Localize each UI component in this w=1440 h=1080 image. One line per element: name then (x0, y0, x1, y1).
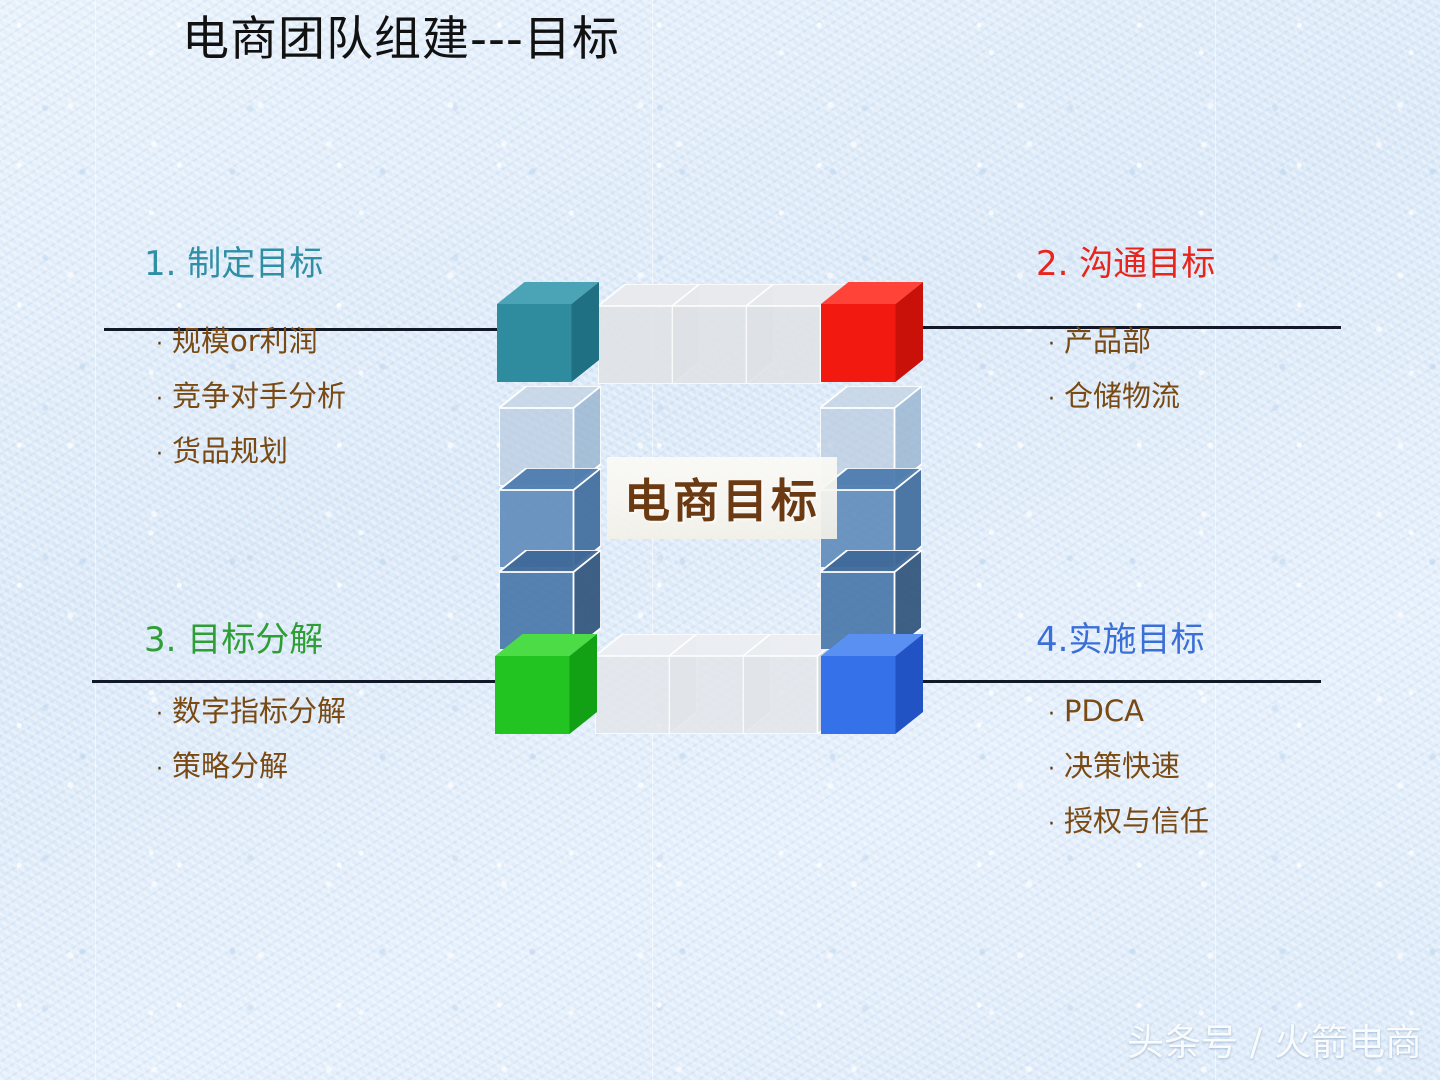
quadrant-4-bullet-list: · PDCA · 决策快速 · 授权与信任 (1048, 697, 1209, 836)
red-cube[interactable] (821, 282, 923, 382)
bullet-marker-icon: · (1048, 759, 1064, 781)
list-item: · 数字指标分解 (156, 697, 346, 726)
page-title: 电商团队组建---目标 (182, 12, 620, 68)
list-item-label: 决策快速 (1064, 752, 1180, 781)
bullet-marker-icon: · (1048, 814, 1064, 836)
list-item: · 策略分解 (156, 752, 346, 781)
list-item: · 仓储物流 (1048, 382, 1215, 411)
list-item-label: PDCA (1064, 697, 1144, 726)
bullet-marker-icon: · (1048, 704, 1064, 726)
quadrant-2-heading: 2. 沟通目标 (1036, 246, 1215, 283)
list-item: · 规模or利润 (156, 327, 346, 356)
list-item-label: 货品规划 (172, 437, 288, 466)
list-item: · 授权与信任 (1048, 807, 1209, 836)
cube-diagram: 电商目标 (495, 282, 945, 702)
background-seam (1215, 0, 1216, 1080)
bullet-marker-icon: · (156, 334, 172, 356)
quadrant-2-bullet-list: · 产品部 · 仓储物流 (1048, 327, 1215, 411)
bullet-marker-icon: · (156, 759, 172, 781)
bullet-marker-icon: · (156, 704, 172, 726)
quadrant-2: 2. 沟通目标 · 产品部 · 仓储物流 (1036, 246, 1215, 411)
quadrant-3: 3. 目标分解 · 数字指标分解 · 策略分解 (144, 622, 346, 781)
bullet-marker-icon: · (156, 444, 172, 466)
list-item-label: 产品部 (1064, 327, 1151, 356)
bullet-marker-icon: · (156, 389, 172, 411)
quadrant-1-heading: 1. 制定目标 (144, 246, 346, 283)
list-item-label: 数字指标分解 (172, 697, 346, 726)
list-item-label: 仓储物流 (1064, 382, 1180, 411)
list-item-label: 授权与信任 (1064, 807, 1209, 836)
green-cube[interactable] (495, 634, 597, 734)
list-item: · 货品规划 (156, 437, 346, 466)
blue-cube[interactable] (821, 634, 923, 734)
list-item: · PDCA (1048, 697, 1209, 726)
list-item: · 竞争对手分析 (156, 382, 346, 411)
bullet-marker-icon: · (1048, 389, 1064, 411)
quadrant-1: 1. 制定目标 · 规模or利润 · 竞争对手分析 · 货品规划 (144, 246, 346, 466)
quadrant-1-bullet-list: · 规模or利润 · 竞争对手分析 · 货品规划 (156, 327, 346, 466)
center-label: 电商目标 (607, 460, 837, 536)
list-item: · 产品部 (1048, 327, 1215, 356)
quadrant-3-bullet-list: · 数字指标分解 · 策略分解 (156, 697, 346, 781)
watermark: 头条号 / 火箭电商 (1127, 1012, 1422, 1066)
quadrant-4: 4.实施目标 · PDCA · 决策快速 · 授权与信任 (1036, 622, 1209, 836)
list-item: · 决策快速 (1048, 752, 1209, 781)
quadrant-3-heading: 3. 目标分解 (144, 622, 346, 659)
list-item-label: 竞争对手分析 (172, 382, 346, 411)
list-item-label: 策略分解 (172, 752, 288, 781)
slide-canvas: 电商团队组建---目标 (0, 0, 1440, 1080)
list-item-label: 规模or利润 (172, 327, 318, 356)
background-seam (95, 0, 96, 1080)
quadrant-4-heading: 4.实施目标 (1036, 622, 1209, 659)
teal-cube[interactable] (497, 282, 599, 382)
bullet-marker-icon: · (1048, 334, 1064, 356)
